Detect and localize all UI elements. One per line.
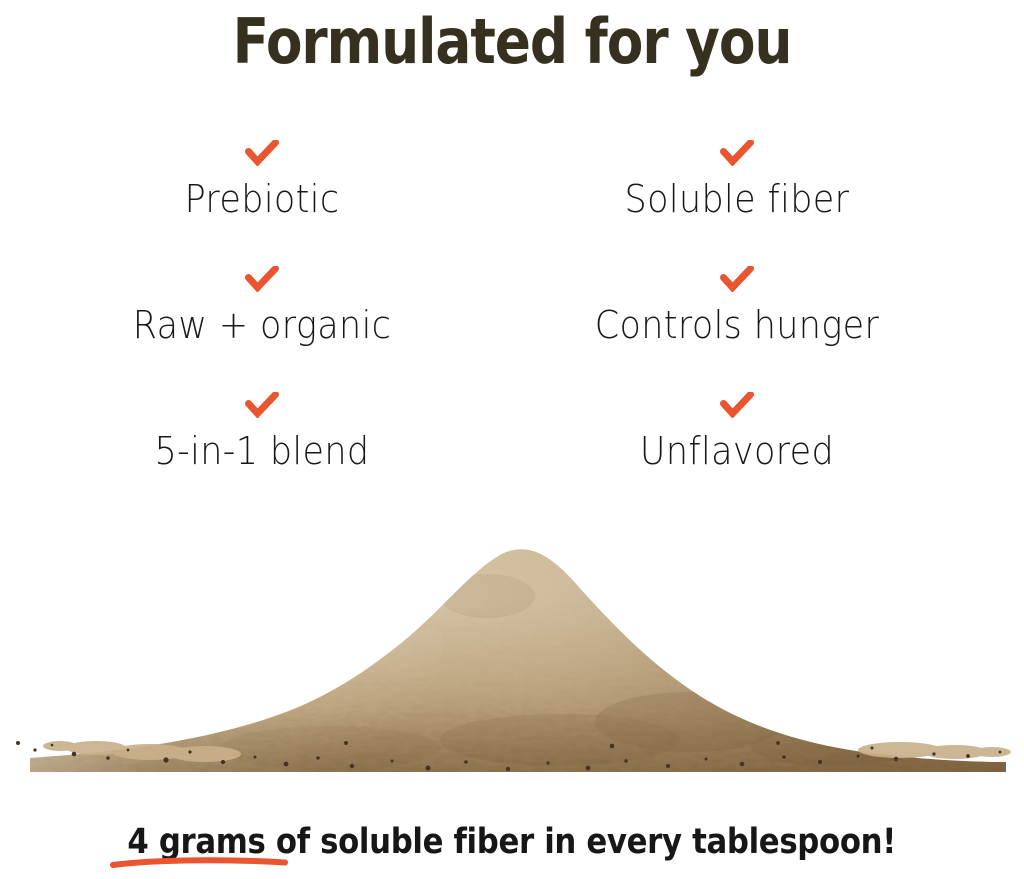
feature-label: Unflavored	[544, 428, 930, 474]
checkmark-icon	[52, 134, 472, 172]
checkmark-icon	[52, 260, 472, 298]
feature-item-raw-organic: Raw + organic	[52, 260, 472, 348]
feature-item-5-in-1-blend: 5-in-1 blend	[52, 386, 472, 474]
checkmark-icon	[52, 386, 472, 424]
page-title: Formulated for you	[72, 6, 953, 78]
checkmark-icon	[527, 260, 947, 298]
checkmark-icon	[527, 134, 947, 172]
feature-label: Prebiotic	[69, 176, 455, 222]
infographic-page: Formulated for you Prebiotic Raw + organ…	[0, 0, 1024, 879]
feature-label: 5-in-1 blend	[69, 428, 455, 474]
feature-label: Raw + organic	[69, 302, 455, 348]
feature-label: Controls hunger	[544, 302, 930, 348]
checkmark-icon	[527, 386, 947, 424]
feature-label: Soluble fiber	[544, 176, 930, 222]
feature-item-unflavored: Unflavored	[527, 386, 947, 474]
fiber-powder-pile	[0, 500, 1024, 800]
orange-underline-stroke	[111, 856, 287, 870]
feature-item-prebiotic: Prebiotic	[52, 134, 472, 222]
feature-item-soluble-fiber: Soluble fiber	[527, 134, 947, 222]
feature-item-controls-hunger: Controls hunger	[527, 260, 947, 348]
feature-list: Prebiotic Raw + organic 5-in-1 blend	[0, 134, 1024, 494]
